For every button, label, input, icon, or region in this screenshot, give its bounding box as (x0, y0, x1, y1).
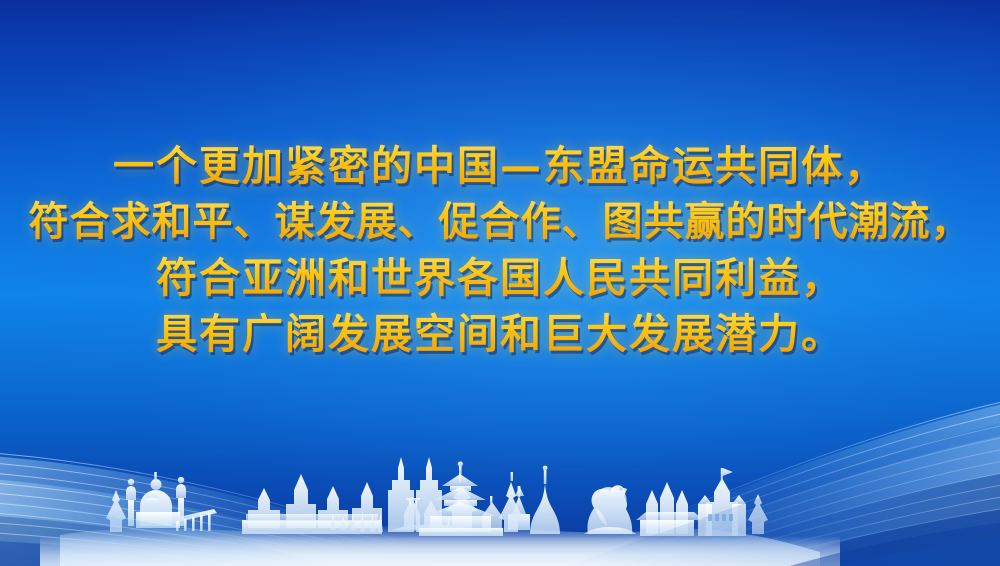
ground-mist-base (40, 536, 840, 566)
merlion-landmark (584, 485, 636, 534)
prambanan-temple-landmark (636, 482, 704, 536)
shwedagon-pagoda-landmark (530, 466, 560, 534)
left-edge-stupa (106, 490, 126, 532)
colonial-building-with-flag-landmark (698, 468, 746, 536)
poster-background: 一个更加紧密的中国—东盟命运共同体， 符合求和平、谋发展、促合作、图共赢的时代潮… (0, 0, 1000, 566)
asean-landmarks-silhouette (0, 0, 1000, 566)
right-edge-stupa (748, 494, 768, 534)
